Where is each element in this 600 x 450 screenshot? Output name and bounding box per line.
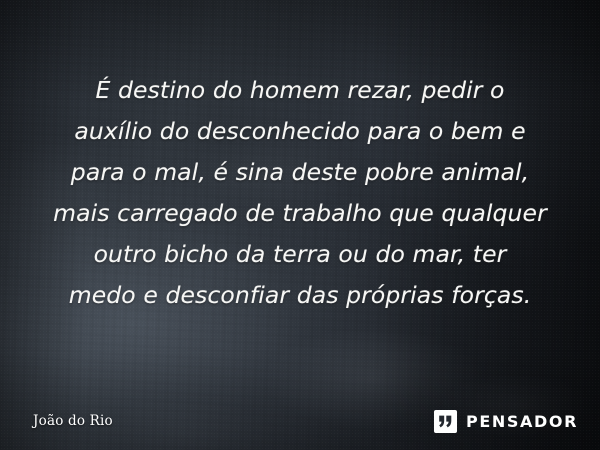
brand-wordmark: PENSADOR bbox=[466, 413, 578, 431]
quote-card: É destino do homem rezar, pedir o auxíli… bbox=[0, 0, 600, 450]
quote-line: outro bicho da terra ou do mar, ter bbox=[30, 234, 570, 275]
quote-text: É destino do homem rezar, pedir o auxíli… bbox=[0, 70, 600, 316]
pensador-logo[interactable]: PENSADOR bbox=[434, 410, 578, 433]
quote-line: para o mal, é sina deste pobre animal, bbox=[30, 152, 570, 193]
quote-line: medo e desconfiar das próprias forças. bbox=[30, 275, 570, 316]
quote-line: mais carregado de trabalho que qualquer bbox=[30, 193, 570, 234]
quote-line: É destino do homem rezar, pedir o bbox=[30, 70, 570, 111]
quote-mark-icon bbox=[434, 410, 457, 433]
author-name: João do Rio bbox=[33, 412, 113, 430]
quote-line: auxílio do desconhecido para o bem e bbox=[30, 111, 570, 152]
